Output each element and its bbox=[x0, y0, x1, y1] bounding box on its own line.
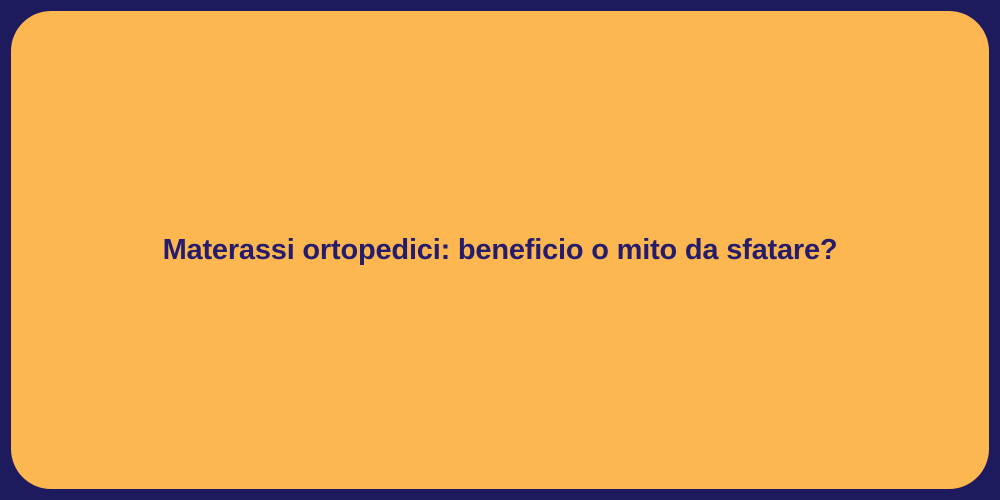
page-background: Materassi ortopedici: beneficio o mito d… bbox=[0, 0, 1000, 500]
page-title: Materassi ortopedici: beneficio o mito d… bbox=[123, 232, 878, 268]
hero-card: Materassi ortopedici: beneficio o mito d… bbox=[11, 11, 989, 489]
